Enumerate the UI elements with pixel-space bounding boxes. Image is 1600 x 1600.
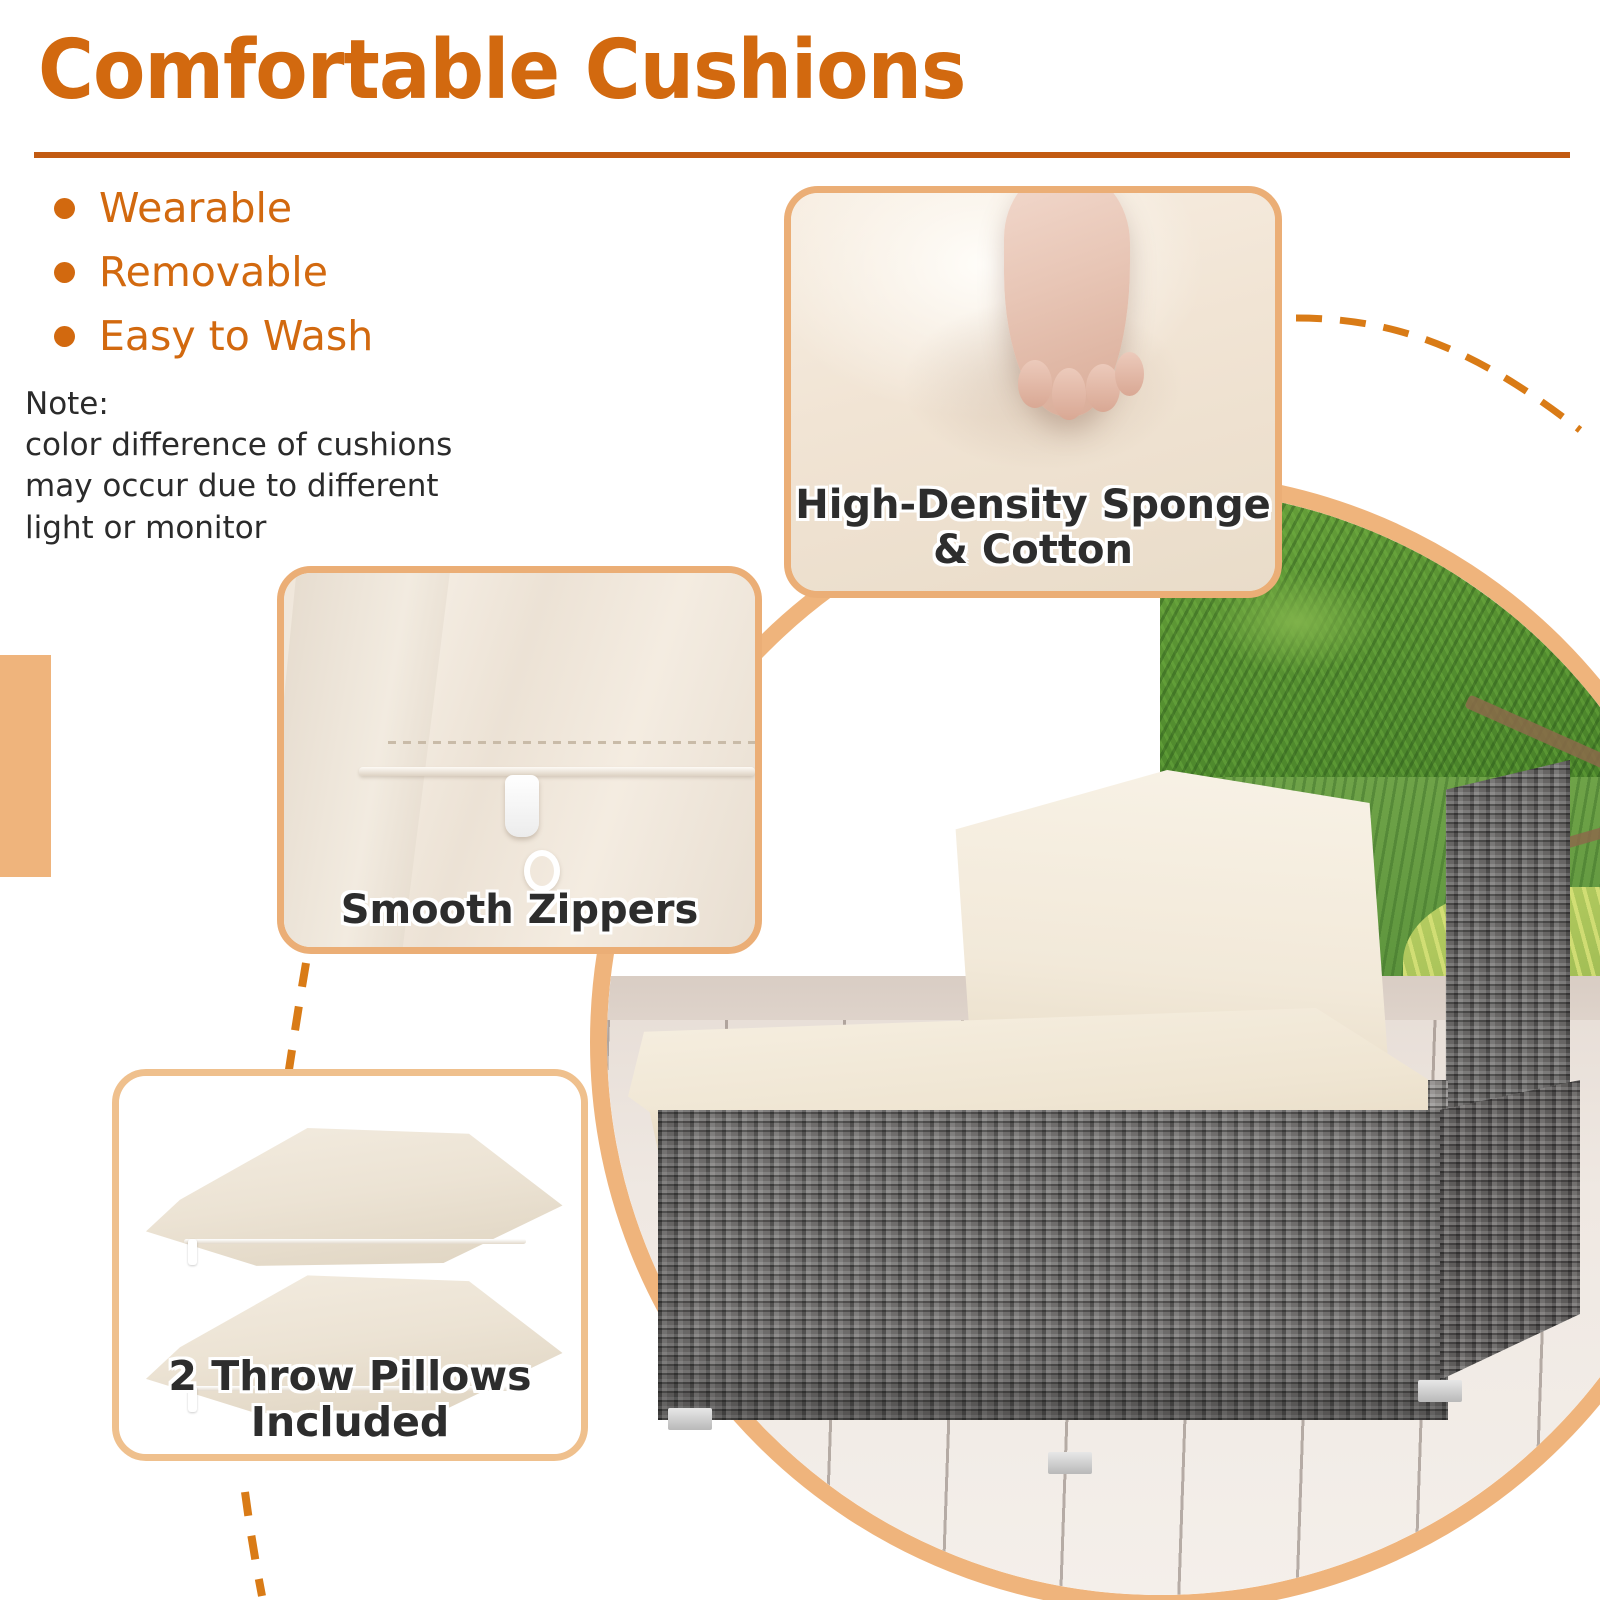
note-line-1: color difference of cushions <box>25 425 495 466</box>
pillow-zipper-pull-icon <box>188 1239 197 1265</box>
sofa-foot <box>1048 1452 1092 1474</box>
connector-sponge-to-hero <box>1296 318 1580 430</box>
sofa-arm <box>1438 760 1570 1130</box>
stitch-line <box>388 741 755 744</box>
pillow-zipper <box>184 1239 526 1244</box>
infographic-canvas: Comfortable Cushions Wearable Removable … <box>0 0 1600 1600</box>
feature-bullet-list: Wearable Removable Easy to Wash <box>36 176 556 368</box>
callout-label-sponge: High-Density Sponge & Cotton <box>791 483 1275 573</box>
callout-label-zipper: Smooth Zippers <box>284 888 755 933</box>
callout-label-line-1: 2 Throw Pillows Included <box>119 1354 581 1446</box>
bullet-dot-icon <box>54 198 75 219</box>
list-item: Wearable <box>36 176 556 240</box>
title-divider <box>34 152 1570 158</box>
zipper-pull-icon <box>505 775 539 837</box>
sofa-foot <box>668 1408 712 1430</box>
list-item: Removable <box>36 240 556 304</box>
callout-card-zipper[interactable]: Smooth Zippers <box>277 566 762 954</box>
connector-pillows-to-hero <box>245 1492 262 1596</box>
bullet-label: Removable <box>99 252 328 293</box>
bullet-label: Easy to Wash <box>99 316 373 357</box>
sofa-side-panel <box>1440 1080 1580 1380</box>
sofa-base <box>658 1110 1448 1420</box>
knuckle-shape <box>1115 352 1144 396</box>
note-line-3: light or monitor <box>25 508 495 549</box>
note-line-2: may occur due to different <box>25 466 495 507</box>
callout-label-line-2: & Cotton <box>791 528 1275 573</box>
knuckle-shape <box>1052 368 1086 420</box>
bullet-dot-icon <box>54 326 75 347</box>
bullet-label: Wearable <box>99 188 292 229</box>
callout-card-sponge[interactable]: High-Density Sponge & Cotton <box>784 186 1282 598</box>
callout-card-pillows[interactable]: 2 Throw Pillows Included <box>112 1069 588 1461</box>
sofa-foot <box>1418 1380 1462 1402</box>
wicker-sofa <box>648 780 1568 1540</box>
bullet-dot-icon <box>54 262 75 283</box>
connector-zipper-to-pillows <box>288 963 306 1076</box>
callout-label-pillows: 2 Throw Pillows Included <box>119 1354 581 1446</box>
left-accent-tab <box>0 655 51 877</box>
page-title: Comfortable Cushions <box>38 30 965 112</box>
note-heading: Note: <box>25 384 495 425</box>
throw-pillow-top <box>137 1125 562 1269</box>
zipper-tape <box>359 767 755 776</box>
callout-label-line-1: High-Density Sponge <box>791 483 1275 528</box>
list-item: Easy to Wash <box>36 304 556 368</box>
note-block: Note: color difference of cushions may o… <box>25 384 495 549</box>
callout-label-line-1: Smooth Zippers <box>284 888 755 933</box>
zipper-ring-icon <box>524 850 560 892</box>
